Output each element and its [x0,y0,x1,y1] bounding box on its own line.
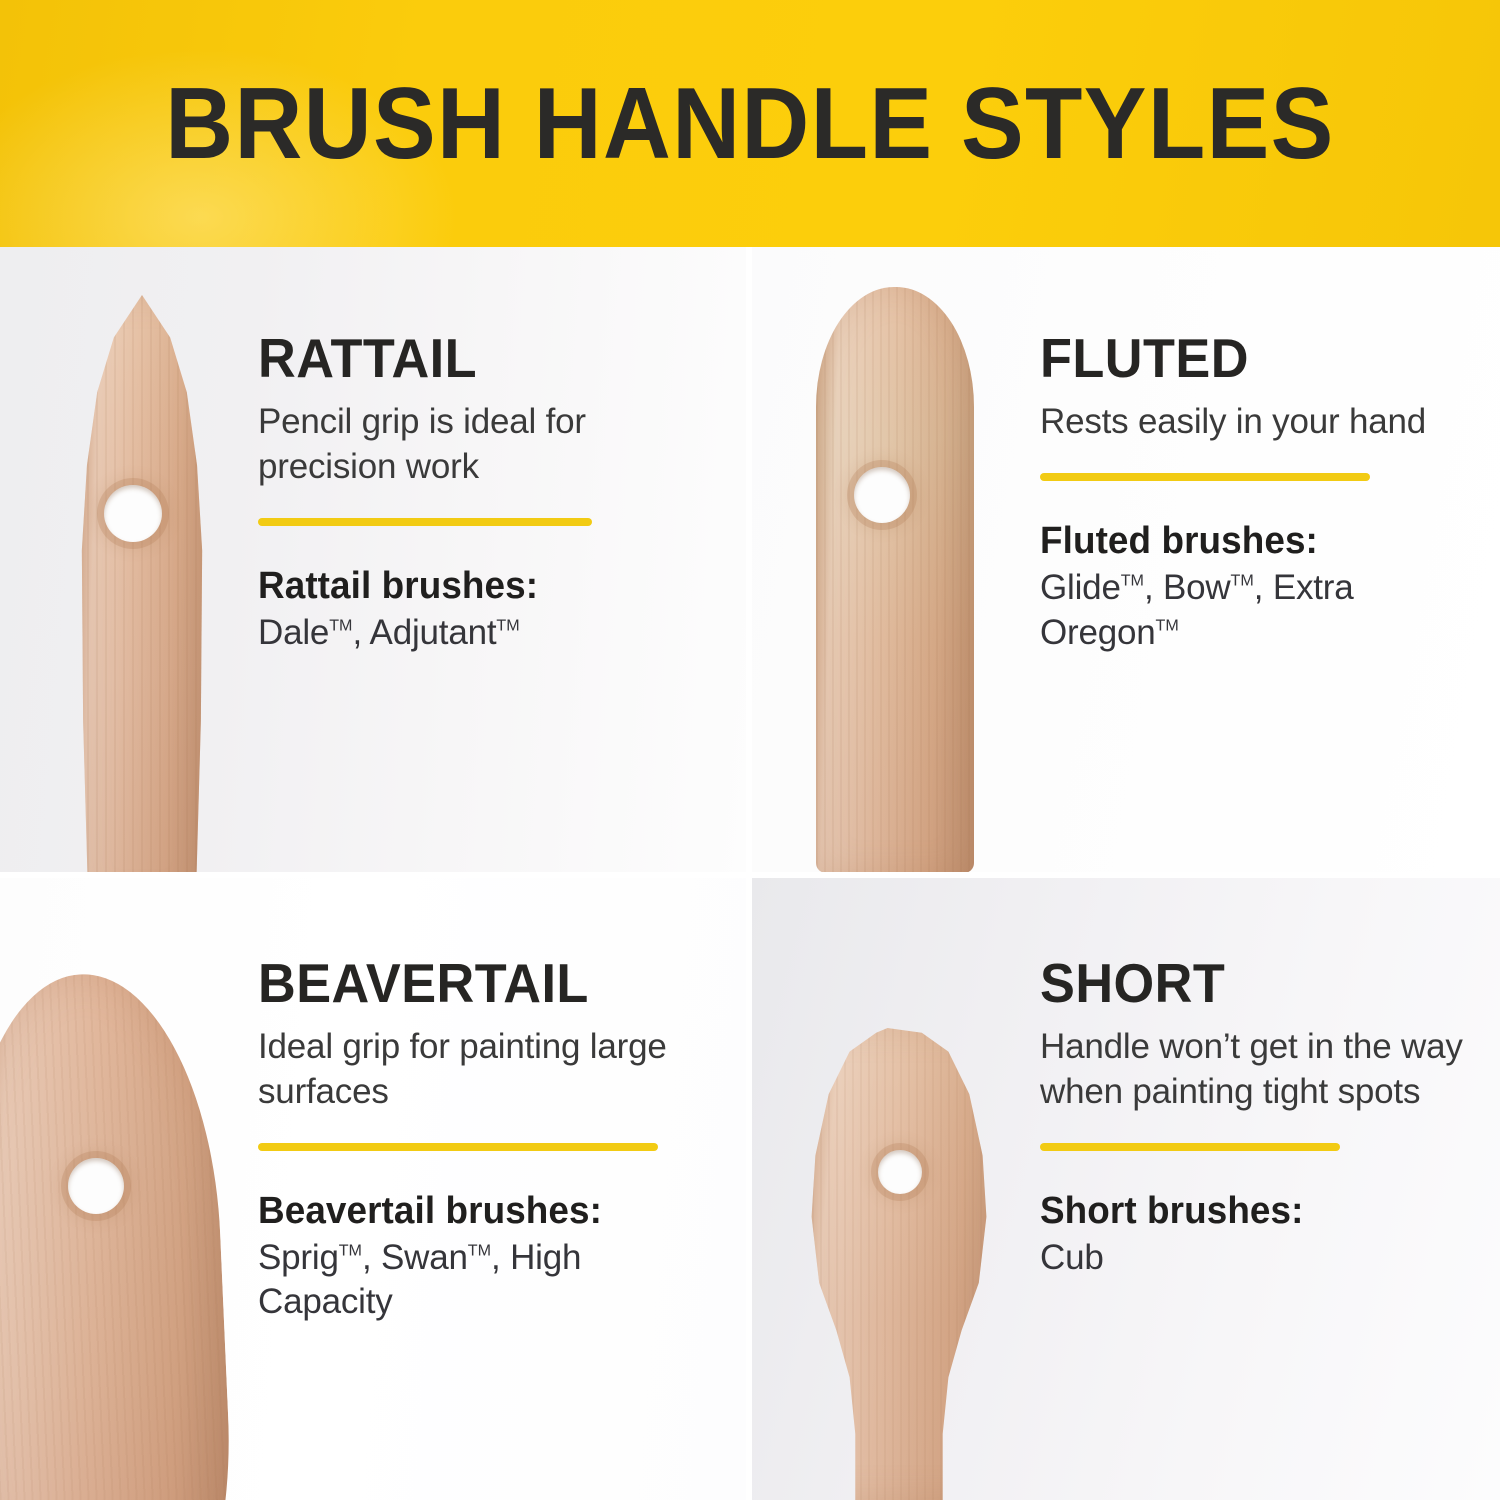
style-card-fluted[interactable]: FLUTED Rests easily in your hand Fluted … [752,247,1500,872]
brushes-label: Short brushes: [1040,1191,1457,1232]
card-text-beavertail: BEAVERTAIL Ideal grip for painting large… [258,956,698,1325]
style-description: Handle won’t get in the way when paintin… [1040,1025,1470,1115]
page-title: BRUSH HANDLE STYLES [53,74,1448,175]
wood-grain [804,1028,994,1500]
hang-hole [104,485,162,542]
fluted-handle-image [816,287,974,872]
card-text-short: SHORT Handle won’t get in the way when p… [1040,956,1470,1280]
brushes-list: DaleTM, AdjutantTM [258,611,678,656]
accent-rule [258,518,592,526]
style-card-short[interactable]: SHORT Handle won’t get in the way when p… [752,878,1500,1500]
style-card-rattail[interactable]: RATTAIL Pencil grip is ideal for precisi… [0,247,746,872]
infographic-page: BRUSH HANDLE STYLES RATTAIL Pencil grip … [0,0,1500,1500]
style-card-beavertail[interactable]: BEAVERTAIL Ideal grip for painting large… [0,878,746,1500]
style-name: SHORT [1040,956,1449,1011]
brushes-list: Cub [1040,1236,1470,1281]
style-name: FLUTED [1040,331,1449,386]
brushes-label: Beavertail brushes: [258,1191,685,1232]
card-text-fluted: FLUTED Rests easily in your hand Fluted … [1040,331,1470,655]
style-description: Rests easily in your hand [1040,400,1470,445]
brushes-label: Rattail brushes: [258,566,665,607]
accent-rule [258,1143,658,1151]
brushes-list: GlideTM, BowTM, Extra OregonTM [1040,566,1470,656]
style-name: RATTAIL [258,331,657,386]
wood-grain [78,295,206,872]
brushes-label: Fluted brushes: [1040,521,1457,562]
hang-hole [878,1150,922,1194]
wood-grain [0,969,239,1500]
short-handle-image [804,1028,994,1500]
accent-rule [1040,473,1370,481]
header-banner: BRUSH HANDLE STYLES [0,0,1500,247]
style-description: Ideal grip for painting large surfaces [258,1025,698,1115]
style-description: Pencil grip is ideal for precision work [258,400,678,490]
rattail-handle-image [78,295,206,872]
beavertail-handle-image [0,974,224,1500]
card-text-rattail: RATTAIL Pencil grip is ideal for precisi… [258,331,678,655]
wood-grain [816,287,974,872]
hang-hole [68,1158,124,1214]
accent-rule [1040,1143,1340,1151]
style-name: BEAVERTAIL [258,956,676,1011]
brushes-list: SprigTM, SwanTM, High Capacity [258,1236,698,1326]
horizontal-divider [0,872,1500,878]
hang-hole [854,467,910,523]
